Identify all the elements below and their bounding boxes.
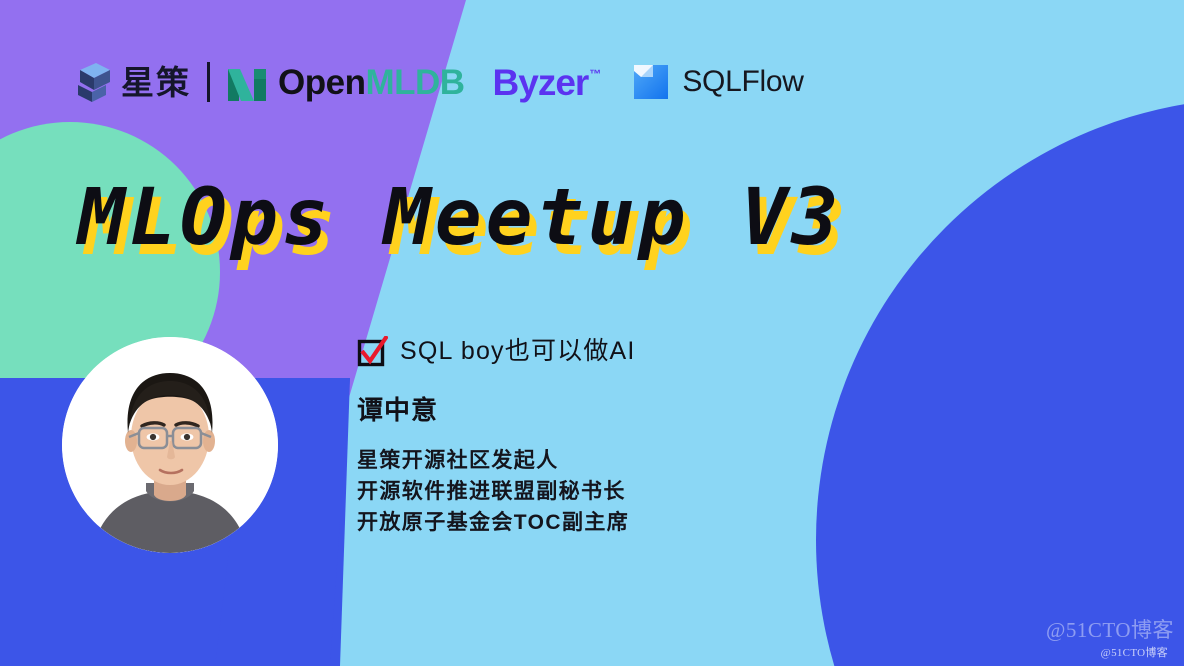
speaker-title-line: 星策开源社区发起人 bbox=[357, 446, 837, 477]
logo-sqlflow: SQLFlow bbox=[631, 61, 803, 103]
topic-label: SQL boy也可以做AI bbox=[400, 339, 636, 364]
checkbox-checked-icon bbox=[357, 336, 388, 367]
speaker-title-line: 开放原子基金会TOC副主席 bbox=[357, 508, 837, 539]
logo-byzer: Byzer ™ bbox=[493, 64, 602, 101]
logo-divider bbox=[207, 62, 210, 102]
logo-xingce: 星策 bbox=[76, 61, 191, 103]
logo-bar: 星策 OpenMLDB Byzer ™ bbox=[76, 52, 804, 112]
topic-row: SQL boy也可以做AI bbox=[357, 336, 837, 367]
title-fill: MLOps Meetup V3 bbox=[75, 173, 842, 263]
byzer-label: Byzer bbox=[493, 64, 589, 101]
sqlflow-label: SQLFlow bbox=[682, 67, 803, 97]
avatar bbox=[62, 337, 278, 553]
xingce-label: 星策 bbox=[121, 66, 191, 99]
openmldb-label-mldb: MLDB bbox=[365, 63, 464, 102]
speaker-title-line: 开源软件推进联盟副秘书长 bbox=[357, 477, 837, 508]
watermark-large: @51CTO博客 bbox=[1046, 614, 1174, 644]
sqlflow-page-icon bbox=[631, 61, 671, 103]
logo-openmldb: OpenMLDB bbox=[226, 61, 465, 103]
speaker-name: 谭中意 bbox=[357, 397, 837, 423]
page-title: MLOps Meetup V3 MLOps Meetup V3 bbox=[78, 182, 1078, 272]
xingce-cube-icon bbox=[76, 61, 112, 103]
speaker-titles: 星策开源社区发起人 开源软件推进联盟副秘书长 开放原子基金会TOC副主席 bbox=[357, 446, 837, 539]
speaker-info-block: SQL boy也可以做AI 谭中意 星策开源社区发起人 开源软件推进联盟副秘书长… bbox=[357, 336, 837, 539]
byzer-trademark: ™ bbox=[589, 67, 601, 81]
openmldb-label: OpenMLDB bbox=[278, 65, 465, 100]
openmldb-label-open: Open bbox=[278, 63, 365, 102]
openmldb-n-icon bbox=[226, 61, 268, 103]
watermark-small: @51CTO博客 bbox=[1101, 644, 1168, 660]
presentation-slide: 星策 OpenMLDB Byzer ™ bbox=[0, 0, 1184, 666]
